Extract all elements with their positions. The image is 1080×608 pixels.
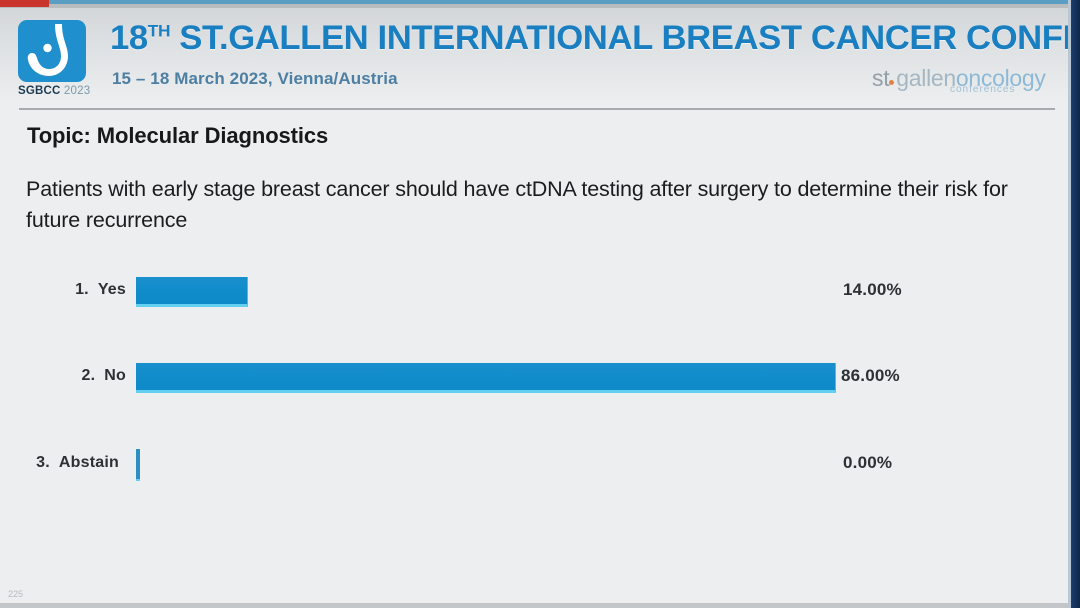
sponsor-gallen: gallen [896,65,956,91]
poll-bar-track-abstain [136,449,140,481]
poll-percent-no: 86.00% [841,366,900,386]
poll-percent-abstain: 0.00% [843,453,892,473]
logo-square [18,20,86,82]
sponsor-conferences: conferences [950,84,1015,95]
poll-option-text-2: No [104,367,126,384]
sponsor-st: st [872,65,889,91]
poll-option-text-3: Abstain [59,454,119,471]
right-edge-dark-border [1071,0,1080,608]
poll-row-no: 2.No 86.00% [0,354,1068,440]
poll-bar-track-yes [136,277,248,309]
poll-bar-no [136,363,836,393]
sgo-conferences-logo: stgallenoncology conferences [872,66,1046,90]
logo-caption-year: 2023 [61,85,91,97]
logo-caption: SGBCC 2023 [18,85,100,97]
title-ordinal: TH [148,22,170,41]
sgbcc-logo: SGBCC 2023 [18,20,100,104]
poll-option-label-abstain: 3.Abstain [0,454,119,472]
presentation-slide: SGBCC 2023 18TH ST.GALLEN INTERNATIONAL … [0,0,1080,608]
poll-option-label-no: 2.No [0,367,126,385]
poll-option-text-1: Yes [98,281,126,298]
top-edge-red-marker [0,0,49,7]
sponsor-dot-icon [889,80,894,85]
logo-caption-bold: SGBCC [18,85,61,97]
bottom-edge-strip [0,603,1080,608]
poll-option-label-yes: 1.Yes [0,281,126,299]
poll-bar-abstain [136,449,140,481]
poll-option-number-1: 1. [75,281,89,298]
poll-percent-yes: 14.00% [843,280,902,300]
slide-topic: Topic: Molecular Diagnostics [27,123,328,149]
conference-dates-location: 15 – 18 March 2023, Vienna/Austria [112,69,398,89]
top-edge-blue-line [49,0,1080,4]
poll-bar-track-no [136,363,836,395]
poll-option-number-2: 2. [82,367,96,384]
poll-question: Patients with early stage breast cancer … [26,174,1048,236]
title-rest: ST.GALLEN INTERNATIONAL BREAST CANCER CO… [170,19,1080,57]
poll-bar-yes [136,277,248,307]
header-divider [19,108,1055,110]
title-number: 18 [110,19,148,57]
slide-header: SGBCC 2023 18TH ST.GALLEN INTERNATIONAL … [0,6,1068,102]
breast-drop-icon [18,20,86,82]
conference-title: 18TH ST.GALLEN INTERNATIONAL BREAST CANC… [110,19,1080,58]
poll-row-yes: 1.Yes 14.00% [0,268,1068,354]
slide-page-number: 225 [8,589,23,599]
poll-row-abstain: 3.Abstain 0.00% [0,440,1068,526]
poll-option-number-3: 3. [36,454,50,471]
poll-results-chart: 1.Yes 14.00% 2.No 86.00% 3.Abstain 0.00% [0,268,1068,526]
